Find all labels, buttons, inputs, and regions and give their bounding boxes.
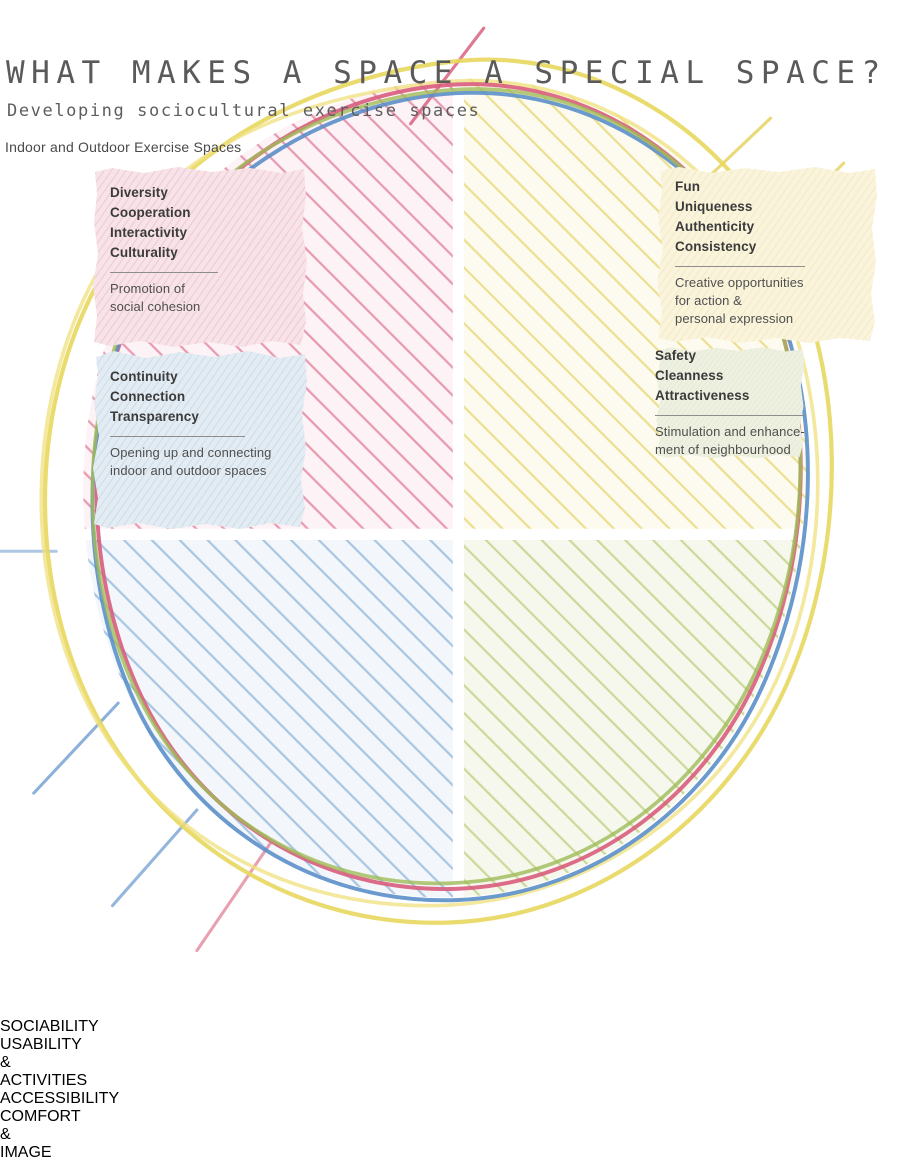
quadrant-label-line: ACCESSIBILITY [0,1090,900,1108]
panel-description: Creative opportunities [675,274,878,292]
panel-usability-content: Fun Uniqueness Authenticity Consistency … [655,166,878,328]
panel-description: Stimulation and enhance- [655,423,805,441]
keyword: Cleanness [655,366,805,386]
quadrant-label-comfort: COMFORT & IMAGE [0,1108,900,1162]
quadrant-label-line: SOCIABILITY [0,1018,900,1036]
panel-comfort: Safety Cleanness Attractiveness Stimulat… [655,346,805,459]
keyword: Interactivity [110,223,308,243]
keyword: Diversity [110,183,308,203]
panel-usability: Fun Uniqueness Authenticity Consistency … [655,166,878,344]
keyword: Authenticity [675,217,878,237]
panel-comfort-content: Safety Cleanness Attractiveness Stimulat… [655,346,805,459]
keyword: Transparency [110,407,308,427]
quadrant-label-line: & [0,1054,900,1072]
keyword: Cooperation [110,203,308,223]
quadrant-label-line: COMFORT [0,1108,900,1126]
keyword: Fun [675,177,878,197]
keyword: Consistency [675,237,878,257]
panel-sociability: Diversity Cooperation Interactivity Cult… [92,166,308,349]
panel-divider [110,436,245,437]
panel-divider [655,415,805,416]
keyword: Safety [655,346,805,366]
panel-accessibility-content: Continuity Connection Transparency Openi… [92,350,308,480]
panel-description: for action & [675,292,878,310]
keyword: Uniqueness [675,197,878,217]
keyword: Continuity [110,367,308,387]
page-subtitle: Developing sociocultural exercise spaces [7,101,480,121]
quadrant-label-accessibility: ACCESSIBILITY [0,1090,900,1108]
panel-description: personal expression [675,310,878,328]
quadrant-fill-accessibility [0,540,453,1013]
panel-description: Promotion of [110,280,308,298]
panel-description: indoor and outdoor spaces [110,462,308,480]
page-title: WHAT MAKES A SPACE A SPECIAL SPACE? [6,55,887,91]
keyword: Culturality [110,243,308,263]
quadrant-label-sociability: SOCIABILITY [0,1018,900,1036]
poster-canvas: WHAT MAKES A SPACE A SPECIAL SPACE? Deve… [0,0,900,600]
panel-description: social cohesion [110,298,308,316]
quadrant-label-line: & [0,1126,900,1144]
panel-sociability-content: Diversity Cooperation Interactivity Cult… [92,166,308,316]
quadrant-label-line: IMAGE [0,1144,900,1162]
panel-description: ment of neighbourhood [655,441,805,459]
quadrant-label-line: USABILITY [0,1036,900,1054]
keyword: Attractiveness [655,386,805,406]
keyword: Connection [110,387,308,407]
panel-accessibility: Continuity Connection Transparency Openi… [92,350,308,530]
panel-divider [675,266,805,267]
page-kicker: Indoor and Outdoor Exercise Spaces [5,139,241,155]
panel-description: Opening up and connecting [110,444,308,462]
panel-divider [110,272,218,273]
quadrant-label-usability: USABILITY & ACTIVITIES [0,1036,900,1090]
quadrant-label-line: ACTIVITIES [0,1072,900,1090]
